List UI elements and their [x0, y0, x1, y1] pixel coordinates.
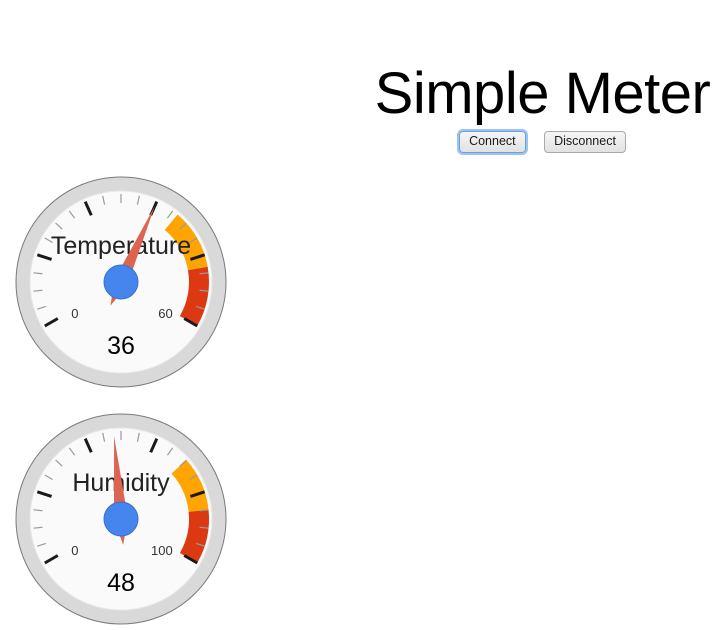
gauge-title: Temperature — [51, 232, 191, 260]
disconnect-button[interactable]: Disconnect — [544, 131, 626, 153]
gauge-value: 48 — [107, 569, 135, 597]
connection-button-bar: Connect Disconnect — [370, 131, 715, 153]
gauge-humidity: 0100Humidity48 — [13, 411, 229, 627]
gauge-max-label: 100 — [151, 543, 173, 558]
gauge-max-label: 60 — [158, 306, 172, 321]
page-title: Simple Meter — [370, 65, 715, 123]
gauge-min-label: 0 — [71, 306, 78, 321]
gauge-value: 36 — [107, 332, 135, 360]
gauge-temperature: 060Temperature36 — [13, 174, 229, 390]
gauge-min-label: 0 — [71, 543, 78, 558]
connect-button[interactable]: Connect — [459, 131, 526, 153]
